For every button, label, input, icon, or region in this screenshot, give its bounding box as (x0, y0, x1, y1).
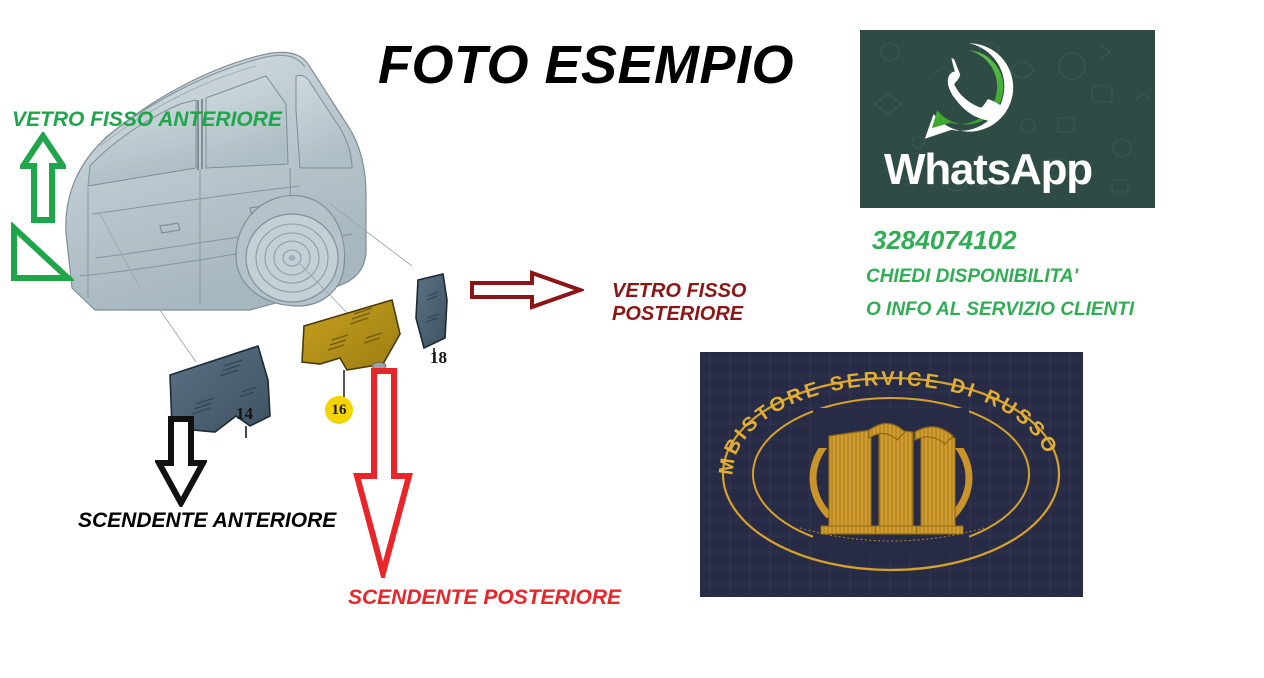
red-down-arrow-icon (352, 366, 414, 578)
green-up-arrow-icon (20, 132, 66, 224)
contact-line-2: O INFO AL SERVIZIO CLIENTI (866, 299, 1134, 321)
poster-canvas: 14 16 17 18 FOTO ESEMPIO VETRO FISSO ANT… (0, 0, 1264, 678)
green-triangle-icon (8, 222, 74, 284)
contact-line-1: CHIEDI DISPONIBILITA' (866, 266, 1078, 288)
company-logo-svg: MRICAMBISTORE SERVICE DI RUSSO MARCO (700, 352, 1083, 597)
label-vetro-fisso-posteriore: VETRO FISSO POSTERIORE (612, 280, 746, 326)
label-vfp-line1: VETRO FISSO (612, 280, 746, 303)
part-number-14: 14 (236, 404, 253, 424)
logo-monogram (813, 408, 969, 558)
black-down-arrow-icon (155, 415, 207, 507)
company-logo-photo: MRICAMBISTORE SERVICE DI RUSSO MARCO (700, 352, 1083, 597)
label-vetro-fisso-anteriore: VETRO FISSO ANTERIORE (12, 108, 282, 132)
label-scendente-anteriore: SCENDENTE ANTERIORE (78, 509, 336, 533)
dark-red-right-arrow-icon (468, 268, 584, 312)
phone-number[interactable]: 3284074102 (872, 225, 1017, 256)
part-number-18: 18 (430, 348, 447, 368)
whatsapp-icon (916, 38, 1022, 144)
whatsapp-wordmark: WhatsApp (884, 148, 1155, 192)
part-number-16: 16 (325, 396, 353, 424)
whatsapp-banner[interactable]: WhatsApp (860, 30, 1155, 208)
page-title: FOTO ESEMPIO (378, 34, 794, 96)
label-vfp-line2: POSTERIORE (612, 303, 746, 326)
label-scendente-posteriore: SCENDENTE POSTERIORE (348, 586, 621, 610)
